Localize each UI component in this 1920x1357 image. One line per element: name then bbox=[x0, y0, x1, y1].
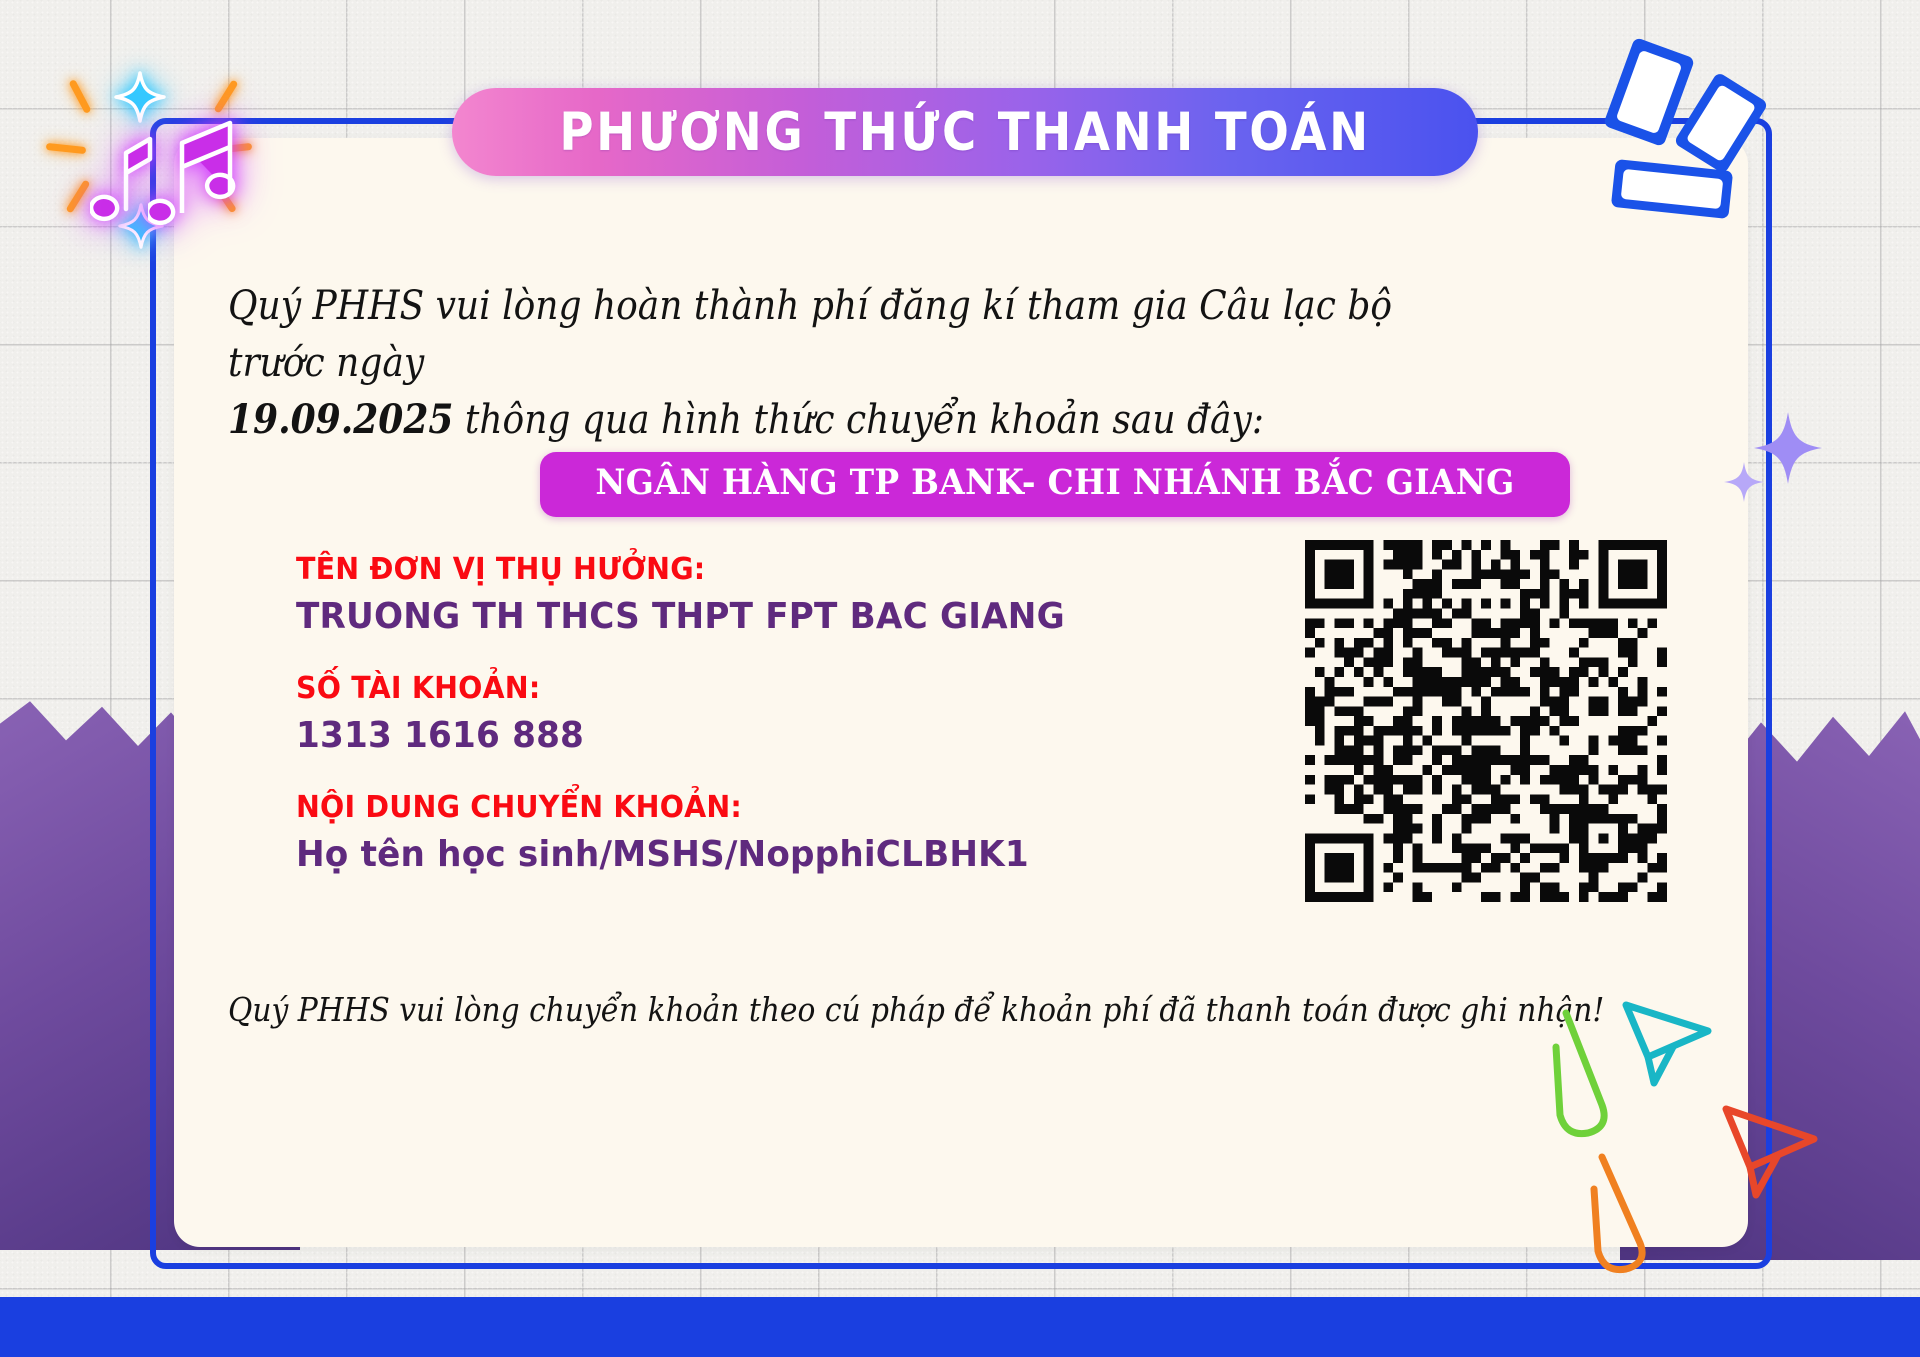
violet-sparkle-decoration bbox=[1718, 400, 1828, 510]
bank-name-badge: NGÂN HÀNG TP BANK- CHI NHÁNH BẮC GIANG bbox=[540, 452, 1570, 517]
paper-plane-icon bbox=[1726, 1109, 1814, 1167]
detail-account-number: SỐ TÀI KHOẢN: 1313 1616 888 bbox=[296, 671, 1056, 756]
payment-details-list: TÊN ĐƠN VỊ THỤ HƯỞNG: TRUONG TH THCS THP… bbox=[296, 552, 1056, 909]
music-note-icon bbox=[148, 107, 246, 234]
paperclips-decoration bbox=[1530, 987, 1860, 1277]
page-title: PHƯƠNG THỨC THANH TOÁN bbox=[559, 102, 1370, 163]
paperclip-icon bbox=[1556, 1013, 1604, 1134]
page-title-banner: PHƯƠNG THỨC THANH TOÁN bbox=[452, 88, 1478, 176]
paper-plane-icon bbox=[1626, 1005, 1708, 1057]
detail-value: 1313 1616 888 bbox=[296, 715, 1018, 756]
detail-label: NỘI DUNG CHUYỂN KHOẢN: bbox=[296, 790, 1018, 825]
paperclip-icon bbox=[1594, 1157, 1642, 1270]
orange-dash-icon bbox=[68, 79, 91, 114]
qr-code-icon bbox=[1305, 540, 1667, 902]
intro-line-2: thông qua hình thức chuyển khoản sau đây… bbox=[453, 397, 1263, 443]
footer-note: Quý PHHS vui lòng chuyển khoản theo cú p… bbox=[228, 990, 1488, 1029]
bank-name-label: NGÂN HÀNG TP BANK- CHI NHÁNH BẮC GIANG bbox=[595, 462, 1514, 503]
blue-brush-decoration bbox=[1595, 35, 1825, 265]
detail-value: Họ tên học sinh/MSHS/NopphiCLBHK1 bbox=[296, 834, 1018, 875]
intro-line-1: Quý PHHS vui lòng hoàn thành phí đăng kí… bbox=[228, 283, 1392, 386]
orange-dash-icon bbox=[65, 179, 90, 213]
qr-code-container bbox=[1305, 540, 1667, 902]
music-notes-decoration bbox=[40, 45, 255, 240]
detail-beneficiary: TÊN ĐƠN VỊ THỤ HƯỞNG: TRUONG TH THCS THP… bbox=[296, 552, 1056, 637]
detail-label: TÊN ĐƠN VỊ THỤ HƯỞNG: bbox=[296, 552, 1018, 587]
detail-transfer-content: NỘI DUNG CHUYỂN KHOẢN: Họ tên học sinh/M… bbox=[296, 790, 1056, 875]
orange-dash-icon bbox=[46, 143, 87, 154]
detail-label: SỐ TÀI KHOẢN: bbox=[296, 671, 1018, 706]
bottom-blue-bar bbox=[0, 1297, 1920, 1357]
detail-value: TRUONG TH THCS THPT FPT BAC GIANG bbox=[296, 596, 1018, 637]
deadline-date: 19.09.2025 bbox=[228, 396, 453, 443]
intro-paragraph: Quý PHHS vui lòng hoàn thành phí đăng kí… bbox=[228, 278, 1452, 448]
